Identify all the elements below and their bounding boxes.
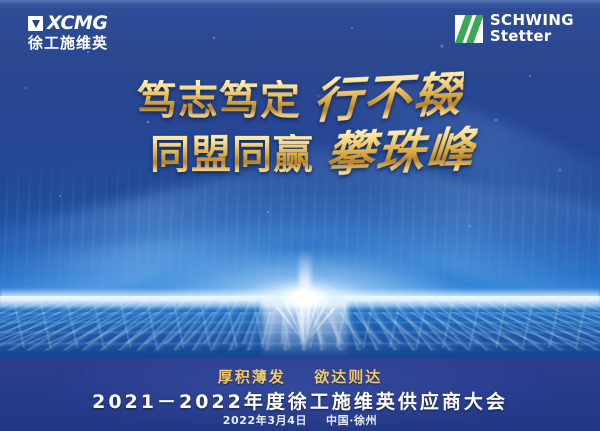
tagline-right: 欲达则达 — [314, 368, 382, 386]
schwing-green-stripes-icon — [455, 15, 483, 43]
headline-line2-bold: 同盟同赢 — [150, 134, 314, 176]
headline-line2-cursive: 攀珠峰 — [324, 125, 478, 178]
tagline-left: 厚积薄发 — [218, 368, 286, 386]
xcmg-logo: XCMG 徐工施维英 — [28, 14, 158, 51]
poster-root: XCMG 徐工施维英 SCHWING Stetter 笃志笃定 行不辍 同盟同赢… — [0, 0, 600, 431]
xcmg-wordmark: XCMG — [47, 14, 107, 33]
headline-line1-bold: 笃志笃定 — [137, 80, 301, 122]
headline-block: 笃志笃定 行不辍 同盟同赢 攀珠峰 — [0, 74, 600, 176]
schwing-stetter-logo: SCHWING Stetter — [455, 13, 574, 45]
xcmg-chinese-name: 徐工施维英 — [28, 36, 158, 51]
conference-date: 2022年3月4日 — [223, 414, 307, 427]
photo-top-edge — [0, 0, 600, 4]
headline-line1-cursive: 行不辍 — [312, 70, 464, 126]
stetter-wordmark: Stetter — [490, 29, 574, 45]
footer-tagline: 厚积薄发 欲达则达 — [0, 366, 600, 387]
conference-location: 中国·徐州 — [326, 414, 377, 427]
conference-meta: 2022年3月4日 中国·徐州 — [0, 412, 600, 428]
vehicle-rows-secondary — [0, 312, 600, 343]
ground-plate — [0, 296, 600, 362]
xcmg-diamond-triangle-icon — [28, 16, 43, 31]
conference-title: 2021－2022年度徐工施维英供应商大会 — [0, 387, 600, 414]
